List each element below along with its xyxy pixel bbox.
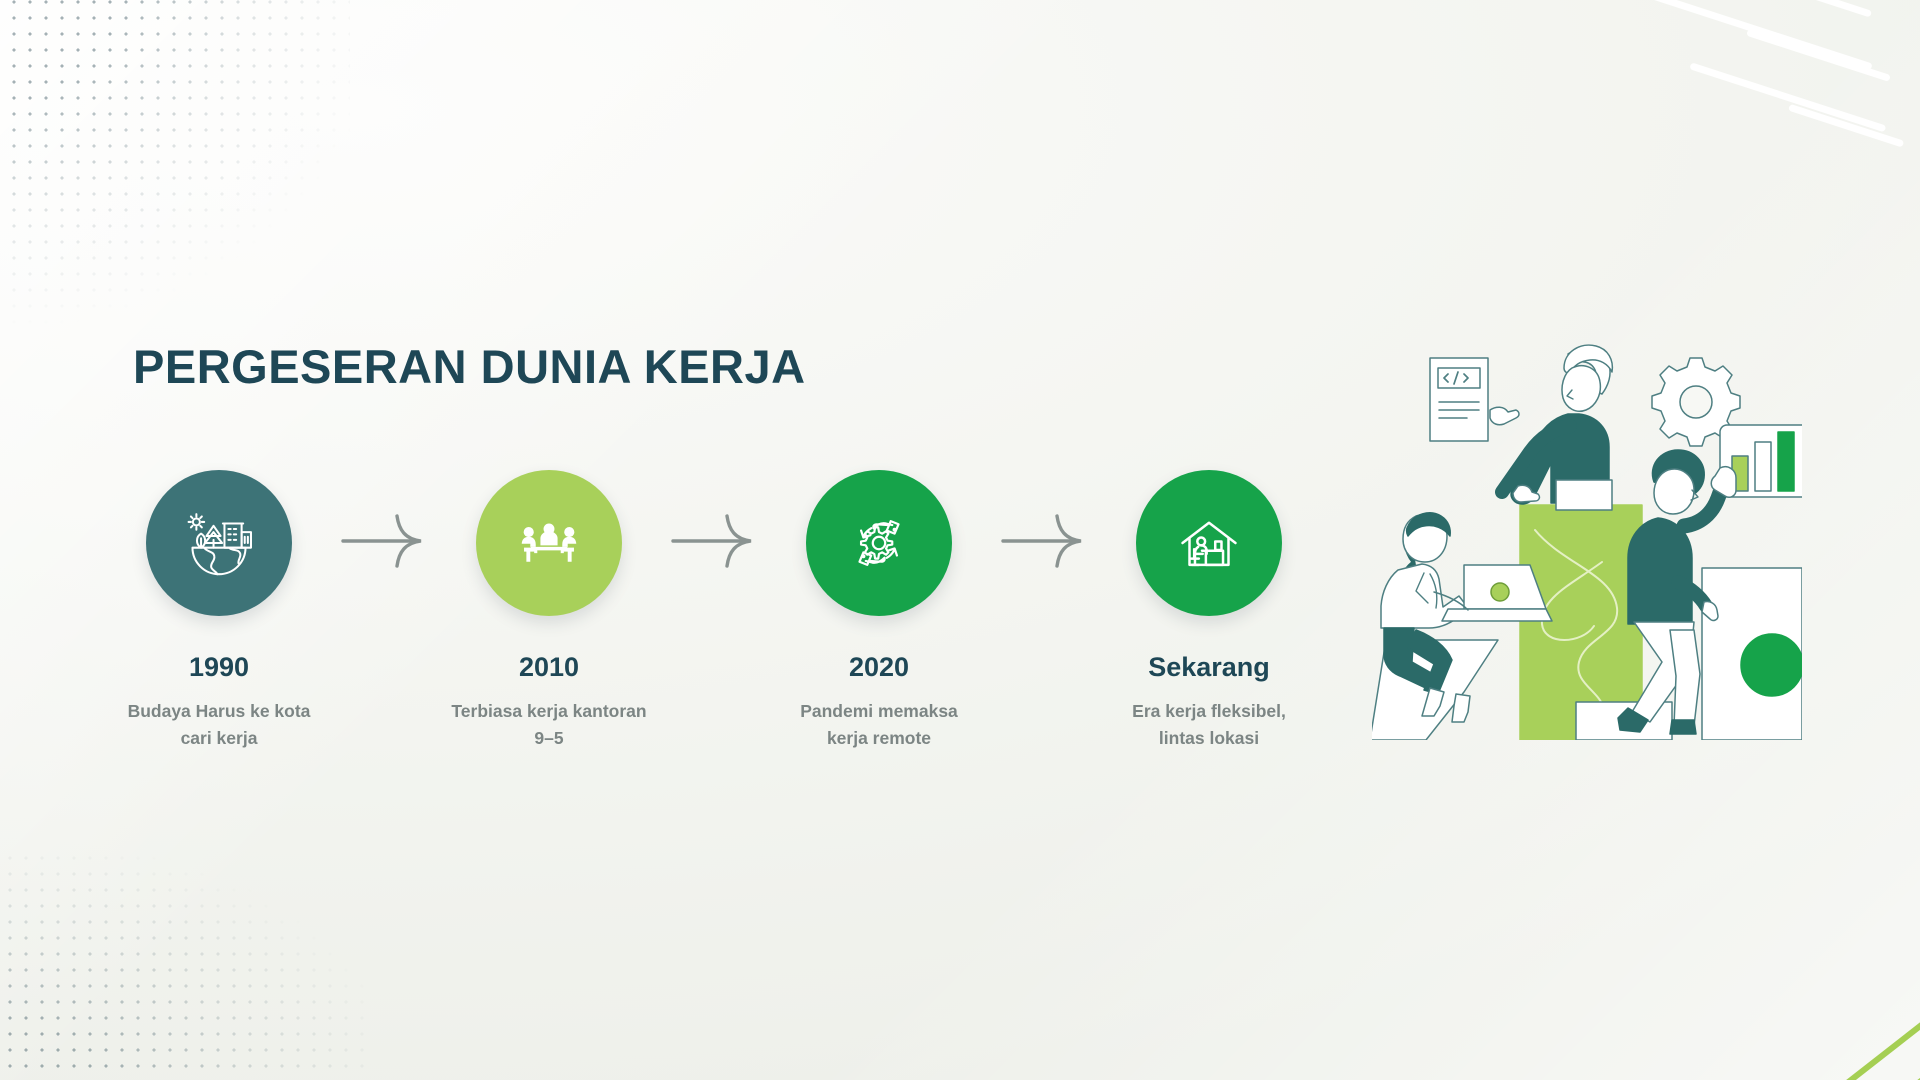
timeline-year-label: 1990 (189, 654, 249, 681)
code-document-icon (1430, 358, 1488, 441)
timeline-step-sekarang[interactable]: Sekarang Era kerja fleksibel, lintas lok… (1100, 470, 1318, 751)
timeline-icon-circle-2010[interactable] (476, 470, 622, 616)
dot-grid-top-left (0, 0, 350, 324)
arrow-right-icon (1001, 512, 1087, 575)
timeline-icon-circle-1990[interactable] (146, 470, 292, 616)
timeline-connector-3 (988, 470, 1100, 616)
timeline-year-label: Sekarang (1148, 654, 1270, 681)
white-diagonal-streaks-top-right (1521, 0, 1920, 234)
meeting-table-icon (510, 504, 588, 582)
timeline-connector-2 (658, 470, 770, 616)
timeline-icon-circle-sekarang[interactable] (1136, 470, 1282, 616)
timeline-step-2010[interactable]: 2010 Terbiasa kerja kantoran 9–5 (440, 470, 658, 751)
timeline-description: Budaya Harus ke kota cari kerja (119, 698, 319, 751)
timeline-connector-1 (328, 470, 440, 616)
timeline-icon-circle-2020[interactable] (806, 470, 952, 616)
person-pointing-at-code-document (1490, 345, 1612, 510)
work-from-home-icon (1170, 504, 1248, 582)
dot-grid-bottom-left (0, 850, 376, 1080)
green-circle (1741, 634, 1802, 696)
hands-gear-cycle-icon (840, 504, 918, 582)
green-diagonal-lines-bottom-right (1690, 930, 1920, 1080)
remote-team-working-illustration (1372, 330, 1802, 740)
timeline-year-label: 2010 (519, 654, 579, 681)
arrow-right-icon (671, 512, 757, 575)
timeline-step-2020[interactable]: 2020 Pandemi memaksa kerja remote (770, 470, 988, 751)
timeline-step-1990[interactable]: 1990 Budaya Harus ke kota cari kerja (110, 470, 328, 751)
page-title: PERGESERAN DUNIA KERJA (133, 339, 806, 394)
timeline-description: Terbiasa kerja kantoran 9–5 (449, 698, 649, 751)
timeline-description: Pandemi memaksa kerja remote (779, 698, 979, 751)
timeline-year-label: 2020 (849, 654, 909, 681)
arrow-right-icon (341, 512, 427, 575)
city-nature-globe-icon (180, 504, 258, 582)
slide-canvas: PERGESERAN DUNIA KERJA (0, 0, 1920, 1080)
timeline-description: Era kerja fleksibel, lintas lokasi (1109, 698, 1309, 751)
timeline: 1990 Budaya Harus ke kota cari kerja (110, 470, 1290, 710)
